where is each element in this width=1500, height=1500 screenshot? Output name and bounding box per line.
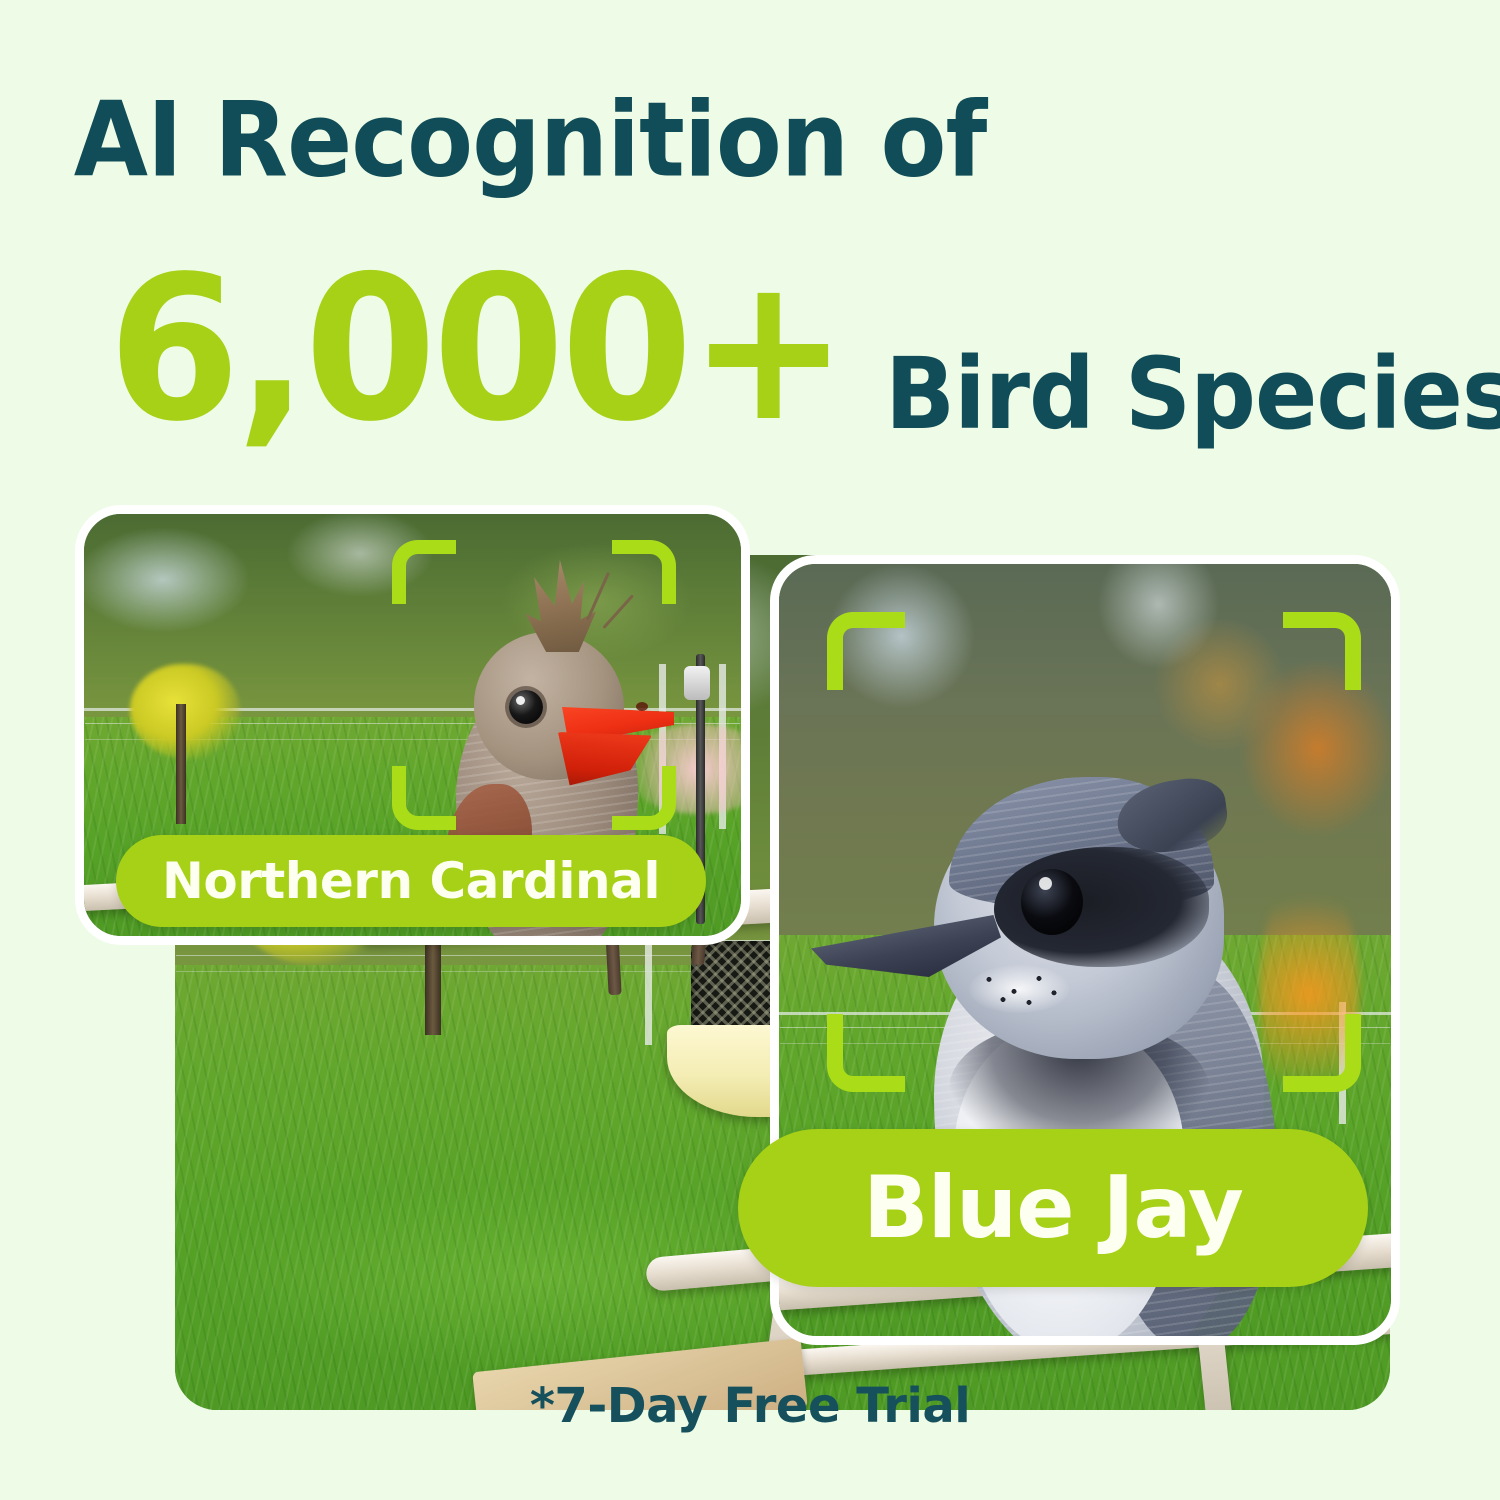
focus-bracket-bottom-right-icon xyxy=(1283,1014,1361,1092)
focus-bracket-top-right-icon xyxy=(1283,612,1361,690)
tree-trunk xyxy=(176,704,186,824)
species-badge-blue-jay[interactable]: Blue Jay xyxy=(738,1129,1368,1287)
species-count-number: 6,000+ xyxy=(108,250,844,450)
ai-detection-frame-jay xyxy=(827,612,1361,1092)
headline-line-2: 6,000+ Bird Species xyxy=(0,250,1500,450)
focus-bracket-bottom-right-icon xyxy=(612,766,676,830)
headline-block: AI Recognition of 6,000+ Bird Species xyxy=(0,0,1500,470)
fence-post xyxy=(645,935,652,1045)
ai-detection-frame-cardinal xyxy=(392,540,676,830)
focus-bracket-top-left-icon xyxy=(827,612,905,690)
focus-bracket-top-right-icon xyxy=(612,540,676,604)
species-badge-northern-cardinal[interactable]: Northern Cardinal xyxy=(116,835,706,927)
free-trial-footnote: *7-Day Free Trial xyxy=(0,1378,1500,1434)
focus-bracket-bottom-left-icon xyxy=(392,766,456,830)
headline-line-1: AI Recognition of xyxy=(0,88,1060,192)
focus-bracket-bottom-left-icon xyxy=(827,1014,905,1092)
headline-species-word: Bird Species xyxy=(885,345,1500,444)
focus-bracket-top-left-icon xyxy=(392,540,456,604)
